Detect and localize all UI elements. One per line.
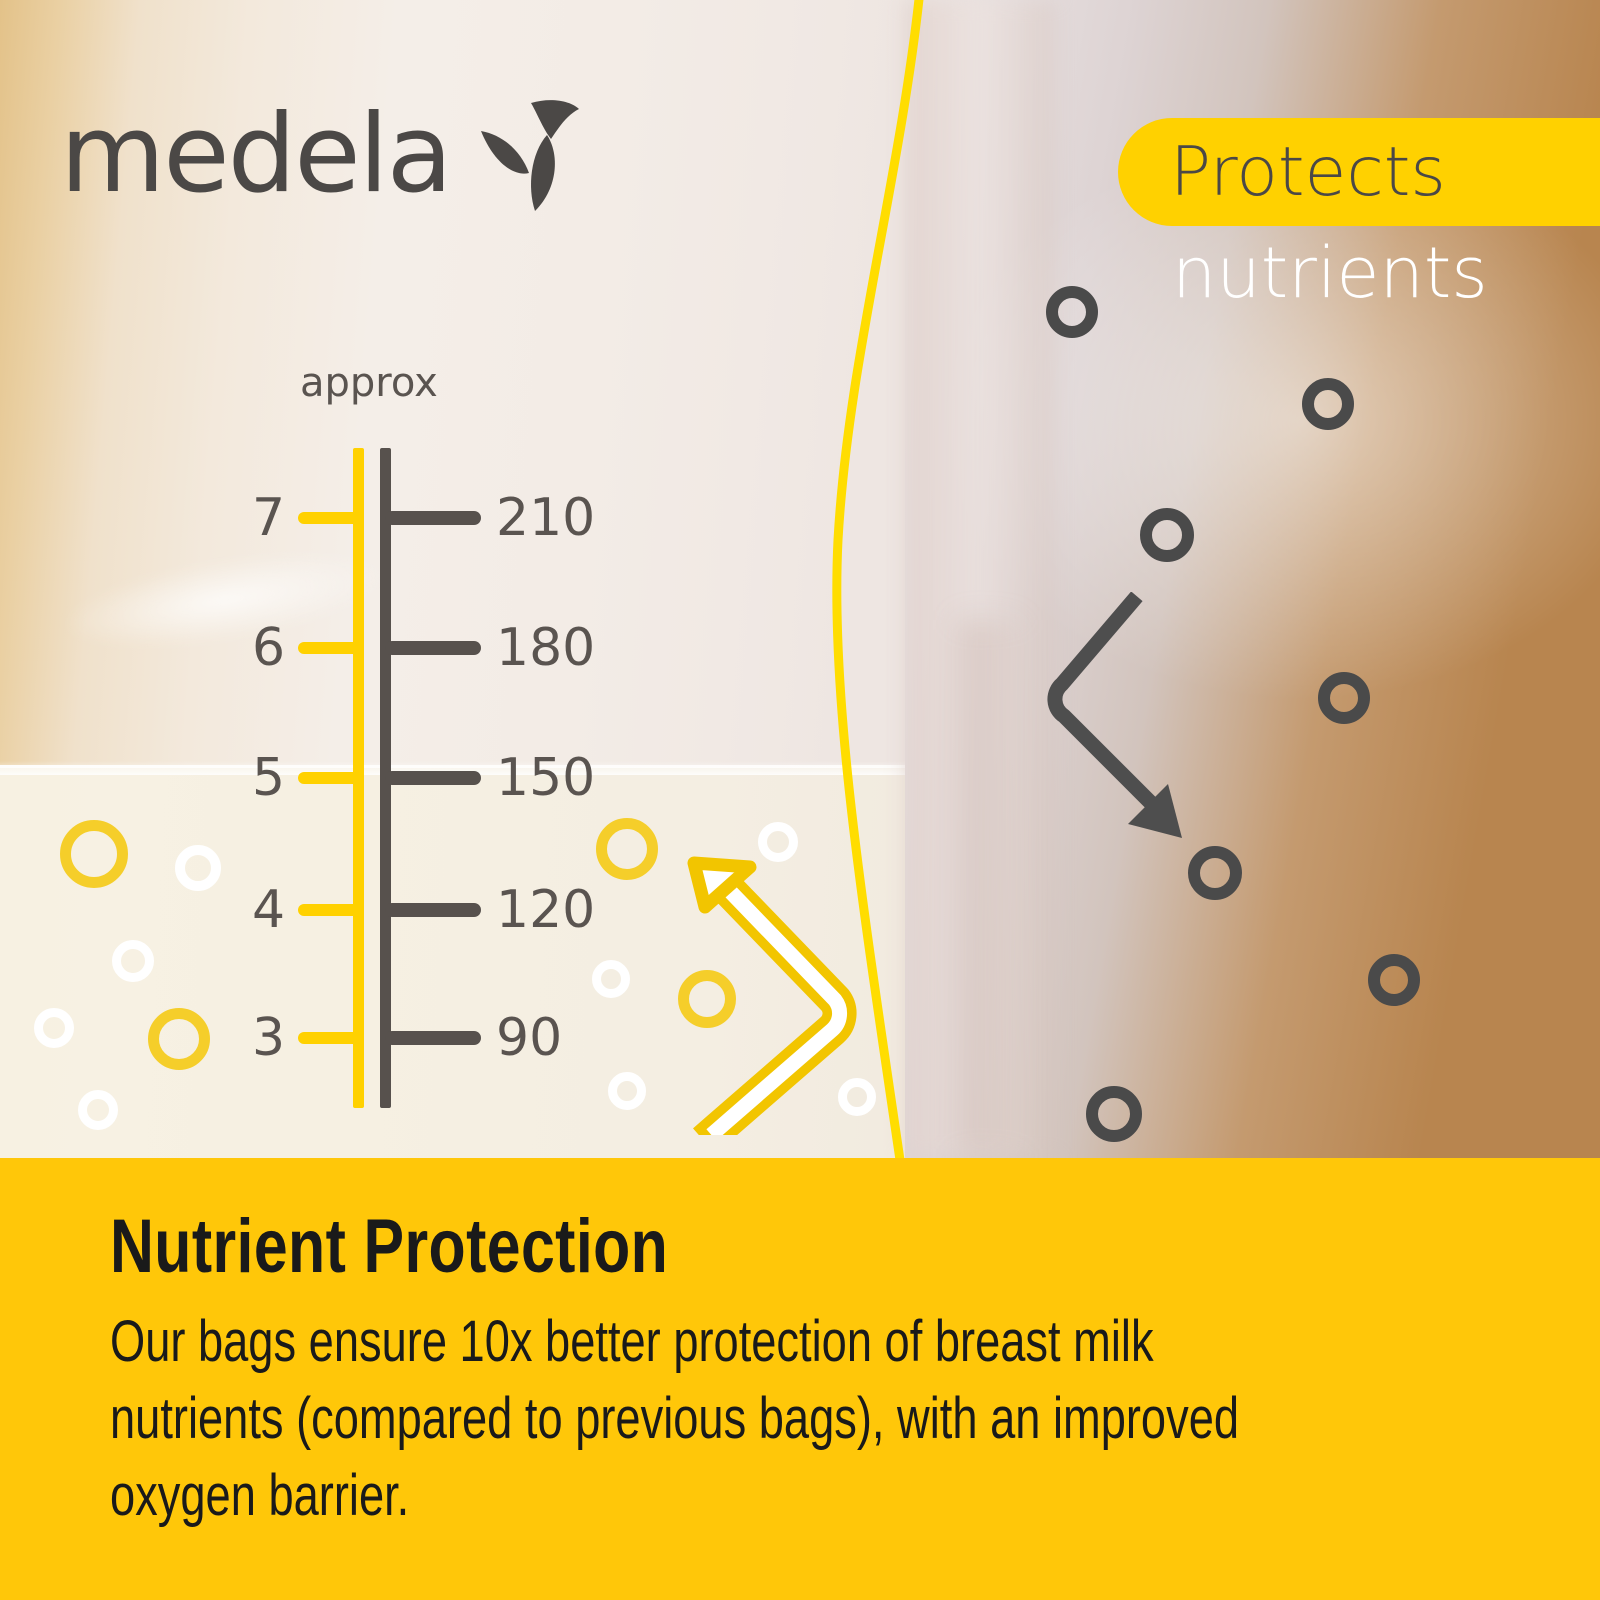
ml-tick (385, 771, 481, 785)
nutrient-ring (148, 1008, 210, 1070)
ml-value: 180 (496, 618, 595, 678)
nutrient-ring (60, 820, 128, 888)
medela-logo: medela (60, 95, 583, 215)
ml-value: 150 (496, 748, 595, 808)
feature-banner: Nutrient Protection Our bags ensure 10x … (0, 1158, 1600, 1600)
ml-tick (385, 511, 481, 525)
oz-tick (298, 904, 360, 916)
oz-value: 5 (252, 748, 285, 808)
medela-tulip-icon (473, 95, 583, 215)
product-marketing-image: medela approx 7 210 6 180 (0, 0, 1600, 1600)
oz-value: 6 (252, 618, 285, 678)
banner-title: Nutrient Protection (110, 1203, 668, 1290)
nutrient-ring (1086, 1086, 1142, 1142)
ml-tick (385, 641, 481, 655)
nutrient-ring (1046, 286, 1098, 338)
nutrient-ring (78, 1090, 118, 1130)
nutrient-ring (1368, 954, 1420, 1006)
nutrient-ring (1302, 378, 1354, 430)
dark-nutrient-arrow-icon (1040, 592, 1200, 852)
ml-tick (385, 1031, 481, 1045)
ml-value: 120 (496, 880, 595, 940)
yellow-nutrient-arrow-icon (672, 845, 862, 1135)
oz-tick (298, 772, 360, 784)
oz-value: 4 (252, 880, 285, 940)
oz-value: 3 (252, 1008, 285, 1068)
protects-label: Protects (1118, 133, 1446, 212)
nutrient-ring (34, 1008, 74, 1048)
ml-value: 90 (496, 1008, 562, 1068)
product-photo: medela approx 7 210 6 180 (0, 0, 1600, 1158)
oz-tick (298, 512, 360, 524)
nutrient-ring (1318, 672, 1370, 724)
ml-value: 210 (496, 488, 595, 548)
oz-value: 7 (252, 488, 285, 548)
ml-tick (385, 903, 481, 917)
approx-label: approx (300, 360, 438, 406)
protects-pill: Protects (1118, 118, 1600, 226)
measurement-scale: approx 7 210 6 180 5 150 4 (240, 360, 660, 1100)
nutrients-label: nutrients (1172, 232, 1488, 314)
banner-body: Our bags ensure 10x better protection of… (110, 1303, 1249, 1534)
nutrient-ring (1188, 846, 1242, 900)
oz-tick (298, 1032, 360, 1044)
nutrient-ring (1140, 508, 1194, 562)
nutrient-ring (175, 845, 221, 891)
oz-tick (298, 642, 360, 654)
nutrient-ring (112, 940, 154, 982)
brand-name: medela (60, 101, 451, 209)
